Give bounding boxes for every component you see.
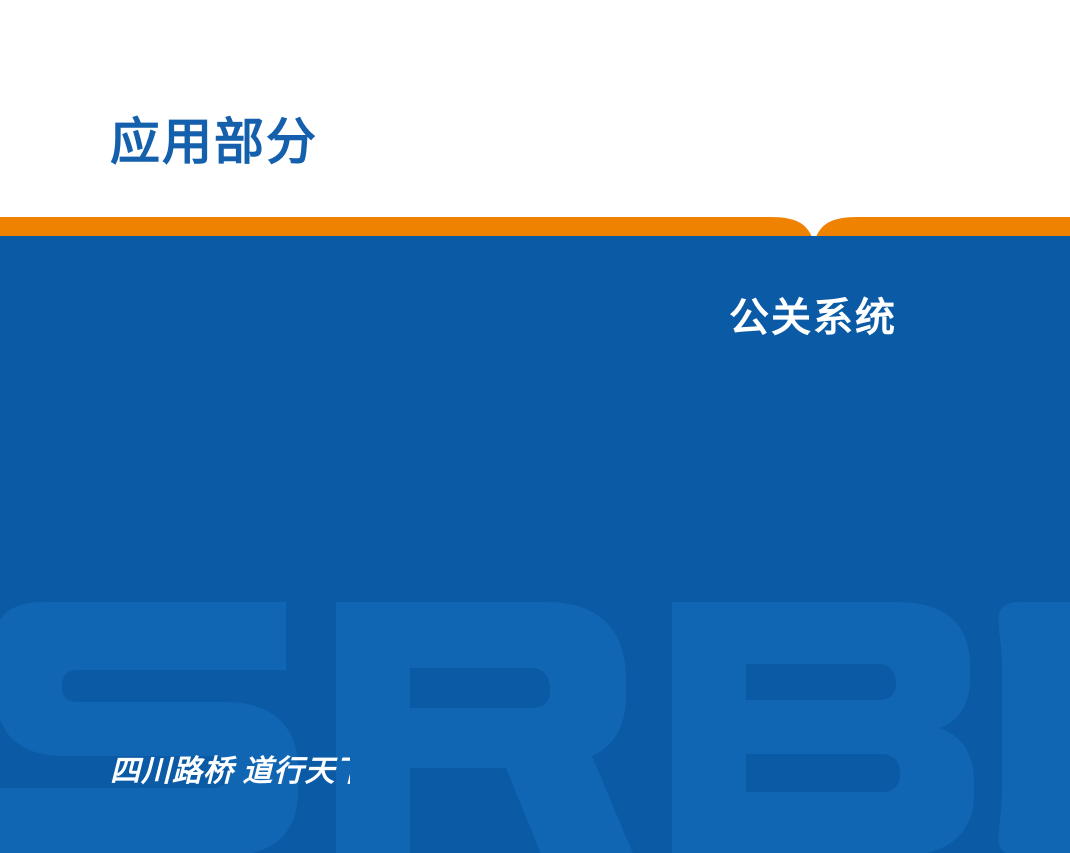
- watermark-letter-r: [336, 602, 634, 853]
- watermark-letter-g: [998, 602, 1070, 853]
- slide-subtitle: 公关系统: [729, 298, 897, 338]
- section-divider-slide: 应用部分: [0, 0, 1070, 853]
- watermark-letters: [0, 602, 1070, 853]
- slide-header: 应用部分: [0, 0, 1070, 217]
- srbg-watermark: [0, 596, 1070, 853]
- slogan-text: 四川路桥 道行天下: [110, 755, 350, 788]
- page-title: 应用部分: [110, 117, 318, 167]
- watermark-letter-s: [0, 602, 298, 853]
- watermark-letter-b: [672, 602, 974, 853]
- company-slogan: 四川路桥 道行天下: [110, 748, 350, 792]
- slide-body: 公关系统 四川路桥 道行天下: [0, 236, 1070, 853]
